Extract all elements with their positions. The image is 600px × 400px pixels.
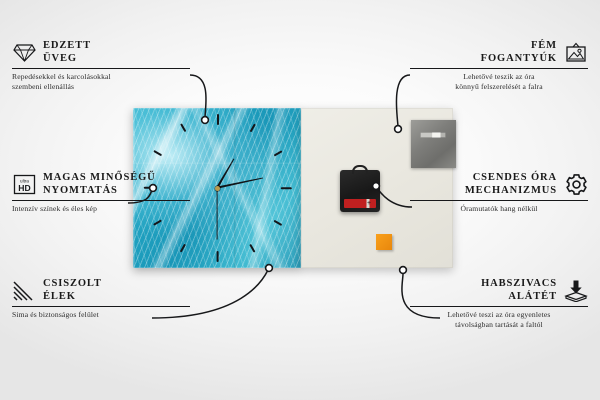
metal-hanger bbox=[411, 120, 456, 168]
feature-foam-backing[interactable]: HABSZIVACS ALÁTÉT Lehetővé teszi az óra … bbox=[410, 278, 588, 330]
feature-title-line2: FOGANTYÚK bbox=[481, 53, 557, 64]
feature-metal-handles[interactable]: FÉM FOGANTYÚK Lehetővé teszik az óra kön… bbox=[410, 40, 588, 92]
feature-title-line2: ÜVEG bbox=[43, 53, 77, 64]
diamond-icon bbox=[12, 41, 36, 65]
feature-title-line1: CSENDES ÓRA bbox=[473, 172, 557, 183]
feature-desc-line1: Sima és biztonságos felület bbox=[12, 310, 99, 319]
feature-title-line1: FÉM bbox=[531, 40, 557, 51]
feature-desc-line1: Lehetővé teszik az óra bbox=[463, 72, 534, 81]
battery: + bbox=[344, 199, 376, 208]
feature-rule bbox=[12, 200, 190, 201]
gear-icon bbox=[564, 173, 588, 197]
feature-desc-line2: szembeni ellenállás bbox=[12, 82, 74, 91]
feature-title-line1: EDZETT bbox=[43, 40, 91, 51]
feature-title-line2: ALÁTÉT bbox=[508, 291, 557, 302]
feature-silent-mechanism[interactable]: CSENDES ÓRA MECHANIZMUS Óramutatók hang … bbox=[410, 172, 588, 214]
feature-title-line2: ÉLEK bbox=[43, 291, 76, 302]
feature-high-quality-print[interactable]: ultra HD MAGAS MINŐSÉGŰ NYOMTATÁS Intenz… bbox=[12, 172, 190, 214]
foam-pad-icon bbox=[564, 279, 588, 303]
hanger-loop-icon bbox=[352, 165, 368, 174]
quartz-movement: + bbox=[340, 170, 380, 212]
feature-rule bbox=[410, 306, 588, 307]
feature-desc-line1: Lehetővé teszi az óra egyenletes bbox=[447, 310, 550, 319]
feature-polished-edges[interactable]: CSISZOLT ÉLEK Sima és biztonságos felüle… bbox=[12, 278, 190, 320]
feature-rule bbox=[12, 306, 190, 307]
beveled-edge-icon bbox=[12, 279, 36, 303]
feature-desc-line2: távolságban tartását a faltól bbox=[455, 320, 543, 329]
svg-text:HD: HD bbox=[18, 183, 30, 193]
picture-frame-icon bbox=[564, 41, 588, 65]
feature-rule bbox=[410, 68, 588, 69]
feature-title-line2: MECHANIZMUS bbox=[465, 185, 557, 196]
ultra-hd-icon: ultra HD bbox=[12, 173, 36, 197]
second-hand bbox=[216, 188, 217, 240]
feature-title-line1: CSISZOLT bbox=[43, 278, 102, 289]
minute-hand bbox=[217, 177, 264, 190]
feature-desc-line2: könnyű felszerelését a falra bbox=[455, 82, 542, 91]
feature-desc-line1: Repedésekkel és karcolásokkal bbox=[12, 72, 111, 81]
feature-tempered-glass[interactable]: EDZETT ÜVEG Repedésekkel és karcolásokka… bbox=[12, 40, 190, 92]
hour-hand bbox=[215, 158, 236, 190]
feature-desc-line1: Óramutatók hang nélkül bbox=[460, 204, 537, 213]
foam-pad bbox=[376, 234, 392, 250]
feature-rule bbox=[12, 68, 190, 69]
feature-title-line1: MAGAS MINŐSÉGŰ bbox=[43, 172, 156, 183]
feature-desc-line1: Intenzív színek és éles kép bbox=[12, 204, 97, 213]
feature-rule bbox=[410, 200, 588, 201]
clock-center-cap bbox=[215, 186, 220, 191]
feature-title-line1: HABSZIVACS bbox=[481, 278, 557, 289]
feature-title-line2: NYOMTATÁS bbox=[43, 185, 118, 196]
